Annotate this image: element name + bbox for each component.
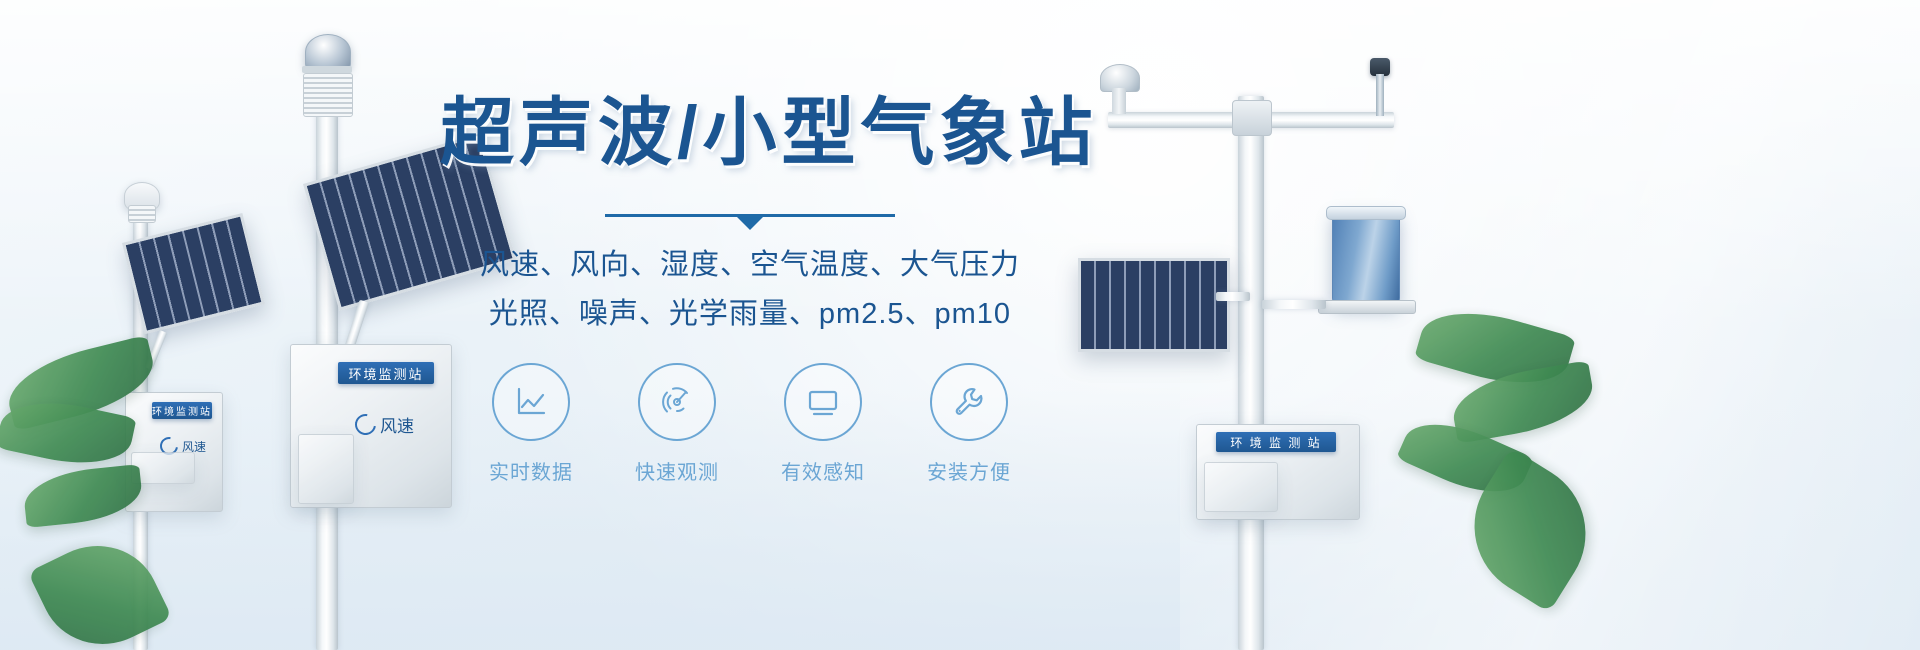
feature-item-easy-install[interactable]: 安装方便 (917, 363, 1021, 485)
feature-item-realtime-data[interactable]: 实时数据 (479, 363, 583, 485)
title-divider (605, 214, 895, 217)
feature-item-fast-observation[interactable]: 快速观测 (625, 363, 729, 485)
mast-pole-right (1238, 96, 1264, 650)
sensor-collar-mid (302, 66, 352, 73)
brand-logo-mid: 风速 (355, 412, 414, 437)
enclosure-badge-mid: 环境监测站 (338, 362, 434, 384)
anemometer-stem-right (1112, 88, 1126, 114)
solar-panel-right (1078, 258, 1230, 352)
line-chart-icon (492, 363, 570, 441)
rain-gauge-rim-right (1326, 206, 1406, 220)
radiation-shield-left (128, 205, 156, 223)
feature-list: 实时数据 快速观测 (440, 363, 1060, 485)
brand-text-mid: 风速 (380, 412, 414, 437)
optical-sensor-stem-right (1376, 74, 1384, 116)
radar-signal-icon (638, 363, 716, 441)
feature-label: 快速观测 (635, 456, 719, 485)
product-banner: 环境监测站 风速 环境监测站 风速 (0, 0, 1920, 650)
radiation-shield-mid (303, 73, 353, 117)
banner-content: 超声波/小型气象站 风速、风向、湿度、空气温度、大气压力 光照、噪声、光学雨量、… (440, 96, 1060, 485)
enclosure-badge-left: 环境监测站 (152, 402, 212, 419)
enclosure-badge-right: 环 境 监 测 站 (1216, 432, 1336, 452)
enclosure-door-right (1204, 462, 1278, 512)
rain-gauge-shelf-right (1318, 300, 1416, 314)
rain-gauge-right (1332, 210, 1400, 306)
wrench-icon (930, 363, 1008, 441)
feature-label: 有效感知 (781, 456, 865, 485)
leaf-shape (28, 524, 172, 650)
feature-label: 实时数据 (489, 456, 573, 485)
brand-mark-icon (351, 410, 380, 439)
arm-clamp-right (1232, 100, 1272, 136)
feature-label: 安装方便 (927, 456, 1011, 485)
subtitle-line-2: 光照、噪声、光学雨量、pm2.5、pm10 (440, 292, 1060, 337)
subtitle-line-1: 风速、风向、湿度、空气温度、大气压力 (440, 243, 1060, 288)
leaf-shape (22, 464, 145, 528)
enclosure-door-mid (298, 434, 354, 504)
ultrasonic-sensor-dome-mid (305, 34, 351, 70)
shelf-arm-right (1262, 300, 1326, 309)
feature-item-effective-sensing[interactable]: 有效感知 (771, 363, 875, 485)
banner-title: 超声波/小型气象站 (440, 96, 1060, 170)
monitor-icon (784, 363, 862, 441)
panel-arm-right (1216, 292, 1250, 301)
